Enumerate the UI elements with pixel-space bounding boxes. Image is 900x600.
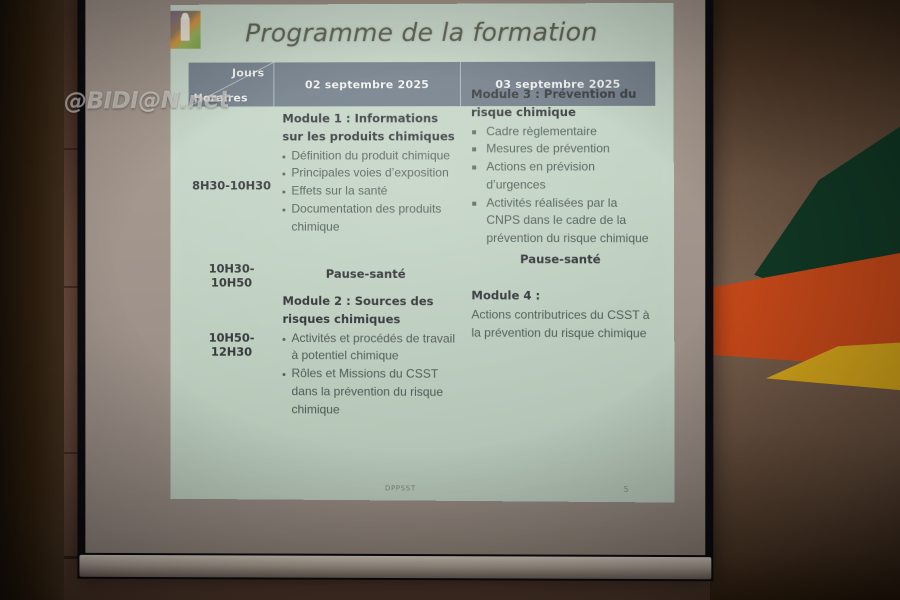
- row-time-label: 8H30-10H30: [189, 110, 275, 260]
- projection-screen-bottom-bar: [79, 555, 711, 579]
- list-item: Activités et procédés de travail à poten…: [282, 330, 455, 366]
- module-title: Module 1 : Informations sur les produits…: [282, 110, 455, 146]
- footer-organization-label: DPPSST: [385, 484, 416, 492]
- row-cell-day-2: Module 3 : Prévention du risque chimique…: [461, 86, 656, 248]
- list-item: Effets sur la santé: [282, 183, 455, 201]
- module-bullet-list: Définition du produit chimique Principal…: [282, 147, 455, 236]
- list-item: Activités réalisées par la CNPS dans le …: [471, 194, 649, 248]
- module-bullet-list: Cadre règlementaire Mesures de préventio…: [471, 123, 649, 248]
- table-header-day-1: 02 septembre 2025: [274, 62, 461, 106]
- module-title: Module 3 : Prévention du risque chimique: [471, 86, 649, 122]
- module-bullet-list: Activités et procédés de travail à poten…: [282, 330, 455, 420]
- schedule-table: Jours Horaires 02 septembre 2025 03 sept…: [189, 61, 657, 420]
- row-cell-day-2: Module 4 : Actions contributrices du CSS…: [461, 287, 656, 342]
- list-item: Rôles et Missions du CSST dans la préven…: [282, 365, 455, 419]
- pause-label: Pause-santé: [471, 252, 649, 266]
- row-cell-day-1: Module 2 : Sources des risques chimiques…: [274, 293, 461, 420]
- slide-page-number: 5: [624, 485, 629, 494]
- list-item: Documentation des produits chimique: [282, 200, 455, 236]
- corner-label-days: Jours: [232, 66, 264, 79]
- row-cell-day-1: Pause-santé: [274, 267, 461, 281]
- list-item: Actions en prévision d’urgences: [471, 158, 649, 194]
- slide-footer: DPPSST 5: [171, 475, 675, 495]
- presentation-slide: Programme de la formation Jours Horaires…: [171, 3, 675, 503]
- module-title: Module 2 : Sources des risques chimiques: [282, 293, 455, 329]
- projection-screen-surface: Programme de la formation Jours Horaires…: [85, 0, 705, 555]
- row-cell-day-2: Pause-santé: [461, 252, 656, 267]
- list-item: Principales voies d’exposition: [282, 165, 455, 183]
- row-time-label: 10H30-10H50: [189, 266, 275, 284]
- photo-watermark: @BIDI@N.net: [64, 87, 229, 115]
- row-time-label: 10H50-12H30: [189, 293, 275, 398]
- list-item: Définition du produit chimique: [282, 147, 455, 165]
- module-title: Module 4 :: [471, 287, 649, 305]
- table-row: 10H30-10H50 Pause-santé Pause-santé: [189, 266, 656, 285]
- row-cell-day-1: Module 1 : Informations sur les produits…: [274, 110, 461, 236]
- page-title: Programme de la formation: [171, 17, 674, 48]
- wall-left-shadow: [0, 0, 64, 600]
- module-description: Actions contributrices du CSST à la prév…: [471, 306, 649, 342]
- table-body: 8H30-10H30 Module 1 : Informations sur l…: [189, 110, 657, 421]
- table-row: 10H50-12H30 Module 2 : Sources des risqu…: [189, 293, 657, 421]
- wall-decoration: [700, 120, 900, 450]
- table-row: 8H30-10H30 Module 1 : Informations sur l…: [189, 110, 656, 262]
- pause-label: Pause-santé: [282, 267, 455, 281]
- list-item: Mesures de prévention: [471, 141, 649, 159]
- list-item: Cadre règlementaire: [471, 123, 649, 141]
